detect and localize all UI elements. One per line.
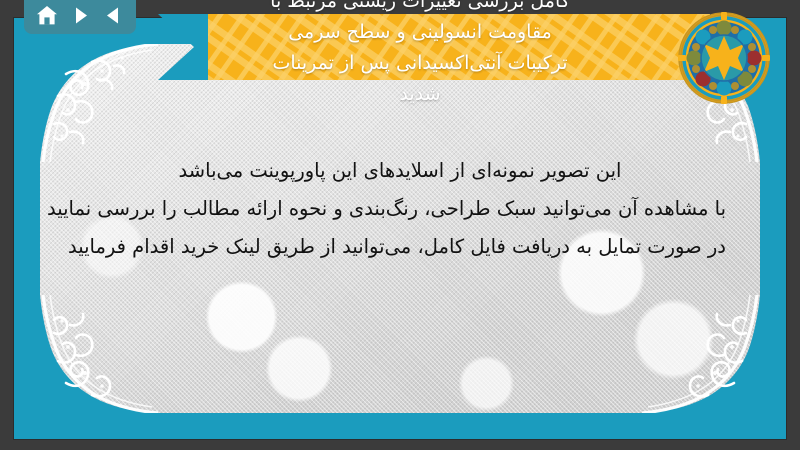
persian-mandala-ornament-icon: [678, 12, 770, 104]
home-button[interactable]: [34, 3, 60, 27]
previous-slide-button[interactable]: [100, 3, 126, 27]
arabesque-corner-ornament-top-left: [40, 44, 158, 162]
triangle-right-icon: [71, 6, 90, 25]
next-slide-button[interactable]: [67, 3, 93, 27]
slide-body-text: این تصویر نمونه‌ای از اسلایدهای این پاور…: [40, 152, 760, 266]
navigation-bar: [24, 0, 136, 34]
title-line-1: کامل بررسی تغییرات زیستی مرتبط با: [176, 0, 664, 17]
body-line-3: در صورت تمایل به دریافت فایل کامل، می‌تو…: [74, 228, 726, 266]
home-icon: [36, 5, 58, 26]
slide-viewer: این تصویر نمونه‌ای از اسلایدهای این پاور…: [0, 0, 800, 450]
slide-frame: این تصویر نمونه‌ای از اسلایدهای این پاور…: [14, 18, 786, 439]
body-line-2: با مشاهده آن می‌توانید سبک طراحی، رنگ‌بن…: [74, 190, 726, 228]
arabesque-corner-ornament-bottom-right: [642, 295, 760, 413]
arabesque-corner-ornament-bottom-left: [40, 295, 158, 413]
triangle-left-icon: [104, 6, 123, 25]
slide-content-area: این تصویر نمونه‌ای از اسلایدهای این پاور…: [40, 44, 760, 413]
body-line-1: این تصویر نمونه‌ای از اسلایدهای این پاور…: [74, 152, 726, 190]
